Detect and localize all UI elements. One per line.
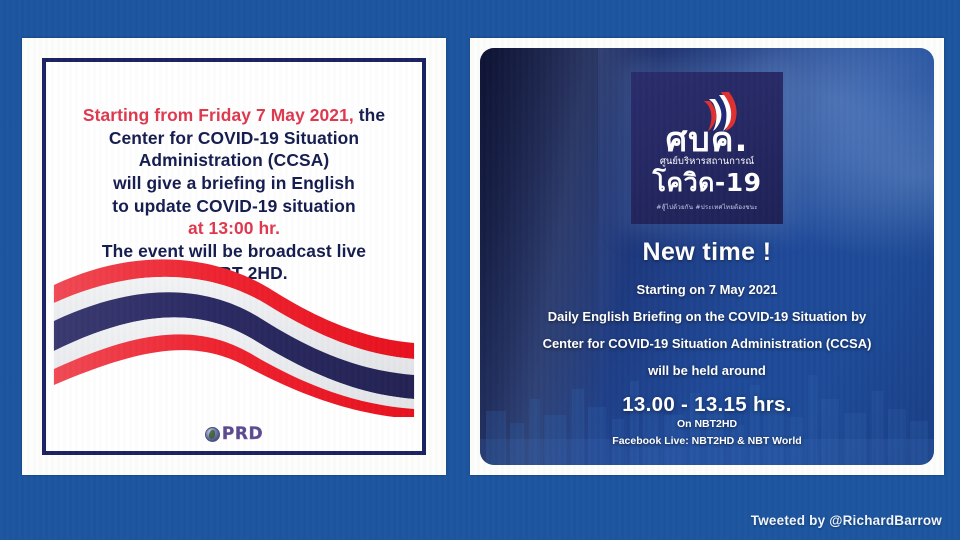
right-time-value: 13.00 - 13.15 hrs. [494,393,920,417]
prd-logo: PRD [46,426,422,443]
left-line-6-time: at 13:00 hr. [56,217,412,240]
right-poster-card: ศบค. ศูนย์บริหารสถานการณ์ โควิด-19 #สู้ไ… [470,38,944,475]
thai-flag-wave-graphic [46,247,422,417]
right-line-center: Center for COVID-19 Situation Administra… [494,337,920,350]
ccsa-hashtags: #สู้ไปด้วยกัน #ประเทศไทยต้องชนะ [656,202,757,212]
left-line-3: Administration (CCSA) [56,149,412,172]
ccsa-subtitle: ศูนย์บริหารสถานการณ์ [660,157,754,168]
right-line-held-around: will be held around [494,364,920,377]
ccsa-acronym: ศบค. [666,124,749,156]
left-poster-card: Starting from Friday 7 May 2021, the Cen… [22,38,446,475]
screenshot-canvas: Starting from Friday 7 May 2021, the Cen… [0,0,960,540]
new-time-headline: New time ! [494,238,920,267]
ccsa-logo-tile: ศบค. ศูนย์บริหารสถานการณ์ โควิด-19 #สู้ไ… [631,72,783,224]
right-poster-photo: ศบค. ศูนย์บริหารสถานการณ์ โควิด-19 #สู้ไ… [480,48,934,465]
ccsa-covid-label: โควิด-19 [652,170,761,196]
footer-channel: On NBT2HD [480,416,934,432]
attribution-label: Tweeted by @RichardBarrow [751,513,942,528]
left-poster-inner-frame: Starting from Friday 7 May 2021, the Cen… [42,58,426,455]
footer-facebook-live: Facebook Live: NBT2HD & NBT World [480,433,934,449]
right-line-briefing: Daily English Briefing on the COVID-19 S… [494,310,920,323]
right-line-start-date: Starting on 7 May 2021 [494,283,920,296]
left-line-2: Center for COVID-19 Situation [56,127,412,150]
prd-globe-icon [205,427,220,442]
left-line-1: Starting from Friday 7 May 2021, the [56,104,412,127]
left-line-4: will give a briefing in English [56,172,412,195]
right-poster-footer: On NBT2HD Facebook Live: NBT2HD & NBT Wo… [480,416,934,449]
prd-logo-text: PRD [222,426,263,443]
right-poster-text-block: New time ! Starting on 7 May 2021 Daily … [480,238,934,417]
left-line-5: to update COVID-19 situation [56,195,412,218]
